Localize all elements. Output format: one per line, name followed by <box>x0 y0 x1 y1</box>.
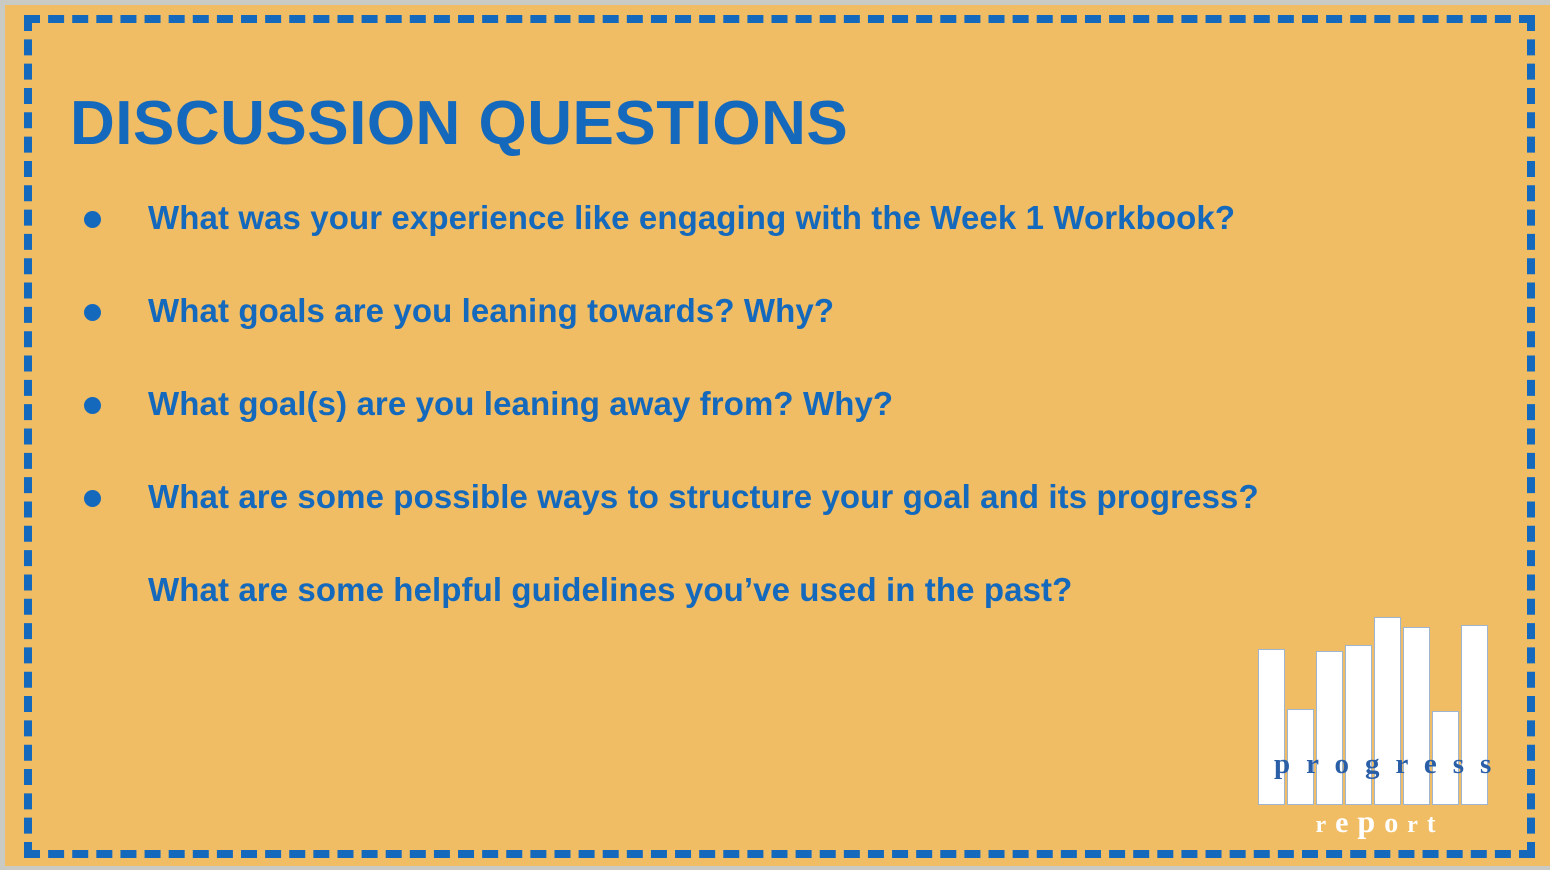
bullet-point-icon <box>84 384 106 414</box>
list-item-label: What was your experience like engaging w… <box>148 198 1490 238</box>
logo-subword-letter: t <box>1427 809 1445 838</box>
logo-subword-letter: e <box>1335 806 1357 839</box>
logo-subword-letter: r <box>1315 812 1335 838</box>
list-item-label: What are some helpful guidelines you’ve … <box>148 570 1490 610</box>
bullet-point-icon <box>84 477 106 507</box>
slide-content: DISCUSSION QUESTIONS What was your exper… <box>0 0 1550 870</box>
logo-bar <box>1432 711 1459 805</box>
list-item-label: What goal(s) are you leaning away from? … <box>148 384 1490 424</box>
bullet-point-icon <box>84 198 106 228</box>
list-item: What was your experience like engaging w… <box>70 198 1490 242</box>
logo-bar <box>1345 645 1372 805</box>
logo-bar <box>1374 617 1401 805</box>
logo-bar <box>1461 625 1488 805</box>
logo-bar <box>1316 651 1343 805</box>
slide-canvas: DISCUSSION QUESTIONS What was your exper… <box>0 0 1550 870</box>
logo-bar <box>1287 709 1314 805</box>
bullet-point-placeholder <box>84 570 106 600</box>
logo-subword-letter: o <box>1384 808 1407 839</box>
list-item-label: What goals are you leaning towards? Why? <box>148 291 1490 331</box>
logo-wordmark-report: report <box>1258 803 1493 840</box>
list-item-label: What are some possible ways to structure… <box>148 477 1490 517</box>
list-item: What goal(s) are you leaning away from? … <box>70 384 1490 428</box>
progress-report-logo: progress report <box>1258 605 1493 850</box>
list-item: What goals are you leaning towards? Why? <box>70 291 1490 335</box>
bullet-point-icon <box>84 291 106 321</box>
logo-subword-letter: p <box>1357 803 1384 839</box>
logo-bar <box>1258 649 1285 805</box>
discussion-questions-list: What was your experience like engaging w… <box>70 198 1490 614</box>
logo-bar-chart <box>1258 605 1493 805</box>
list-item: What are some possible ways to structure… <box>70 477 1490 521</box>
logo-bar <box>1403 627 1430 805</box>
logo-subword-letter: r <box>1407 812 1427 838</box>
page-title: DISCUSSION QUESTIONS <box>70 88 848 159</box>
